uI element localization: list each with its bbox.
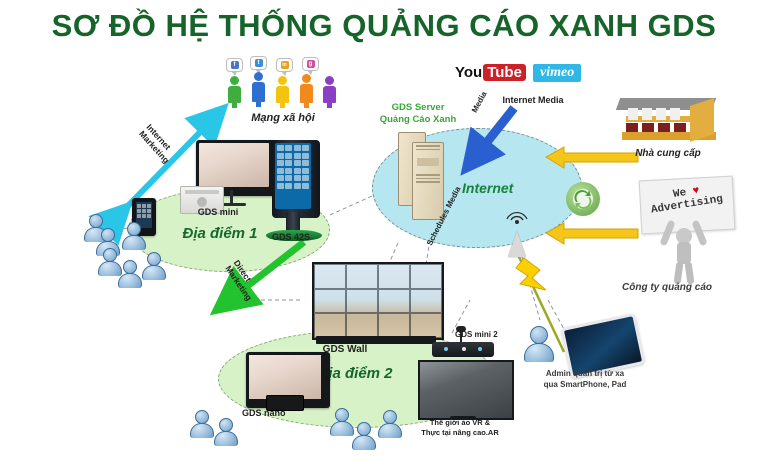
tv-screen (249, 355, 321, 399)
supplier-label: Nhà cung cấp (608, 148, 728, 159)
kiosk-column (286, 212, 300, 232)
speech-bubble: f (226, 58, 243, 72)
gds-server-rack-front (412, 142, 444, 220)
avatar (352, 422, 376, 450)
wifi-tower (502, 212, 528, 257)
gds-server-label-line2: Quảng Cáo Xanh (370, 114, 466, 126)
gds-wall-video-wall (312, 262, 444, 340)
youtube-text-tube: Tube (483, 64, 526, 81)
tv-stand (230, 190, 233, 204)
gds-server-label: GDS Server Quảng Cáo Xanh (370, 102, 466, 126)
ad-company-inbound-arrow (546, 222, 646, 246)
youtube-logo: YouTube (455, 64, 526, 82)
location-1-label: Địa điểm 1 (160, 225, 280, 242)
gds-mini-2-label: GDS mini 2 (455, 330, 498, 339)
avatar (214, 418, 238, 446)
gds-42s-kiosk (272, 140, 320, 218)
avatar (122, 222, 146, 250)
gds-mini-label: GDS mini (178, 207, 258, 217)
video-wall-base (316, 336, 436, 344)
direct-marketing-arrow (212, 240, 322, 320)
ad-company-label: Công ty quảng cáo (592, 282, 742, 293)
gds-mini-2-sensor (432, 342, 494, 357)
internet-media-label: Internet Media (478, 95, 588, 105)
social-person (300, 74, 313, 116)
speech-bubble: t (250, 56, 267, 70)
speech-bubble: g (302, 57, 319, 71)
green-recycle-icon (566, 182, 600, 216)
vr-ar-label-line1: Thế giới ảo VR & (395, 418, 525, 428)
ad-company-figure (662, 222, 708, 284)
social-glyph: t (255, 59, 263, 67)
tower-cone (508, 231, 526, 257)
social-glyph: in (281, 61, 289, 69)
avatar (190, 410, 214, 438)
social-glyph: g (307, 60, 315, 68)
vr-ar-label-line2: Thực tại nâng cao.AR (395, 428, 525, 438)
kiosk-screen (275, 143, 311, 209)
vimeo-logo: vimeo (533, 64, 581, 82)
social-network-group: f t in g (224, 58, 342, 116)
social-person (252, 72, 265, 116)
tv-screen (199, 143, 269, 187)
gds-nano-label: GDS nano (242, 408, 286, 418)
youtube-text-you: You (455, 64, 482, 81)
vr-ar-display (418, 360, 514, 420)
gds-server-label-line1: GDS Server (370, 102, 466, 114)
social-person (323, 76, 336, 116)
avatar (142, 252, 166, 280)
admin-label-line1: Admin quản trị từ xa (510, 368, 660, 379)
admin-avatar (524, 326, 554, 362)
media-arrow (462, 106, 542, 186)
audience-group-bottom-left (190, 410, 250, 450)
vr-ar-label: Thế giới ảo VR & Thực tại nâng cao.AR (395, 418, 525, 438)
social-person (276, 76, 289, 116)
admin-label-line2: qua SmartPhone, Pad (510, 379, 660, 390)
audience-group-lower-left (98, 248, 168, 294)
avatar (330, 408, 354, 436)
diagram-canvas: SƠ ĐỒ HỆ THỐNG QUẢNG CÁO XANH GDS f t in… (0, 0, 768, 462)
admin-label: Admin quản trị từ xa qua SmartPhone, Pad (510, 368, 660, 390)
social-network-label: Mạng xã hội (228, 112, 338, 124)
gds-42s-label: GDS 42S (272, 232, 310, 242)
supplier-shelf (618, 92, 720, 148)
speech-bubble: in (276, 58, 293, 72)
avatar (118, 260, 142, 288)
social-glyph: f (231, 61, 239, 69)
